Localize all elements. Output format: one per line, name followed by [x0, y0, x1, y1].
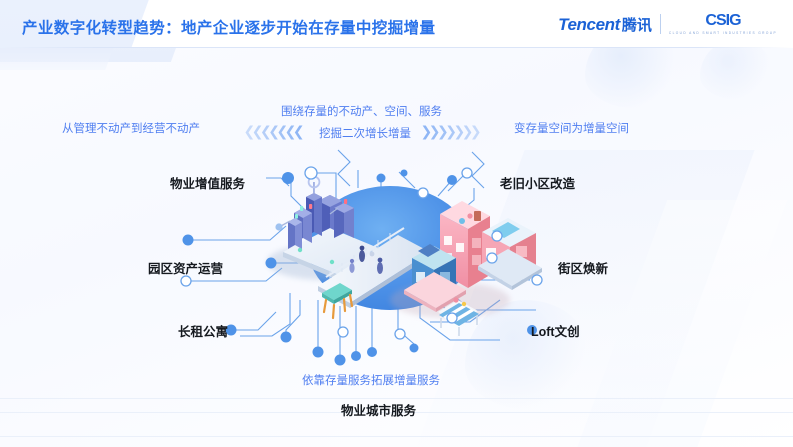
annotation-mid-top: 围绕存量的不动产、空间、服务: [281, 103, 442, 119]
tencent-logo: Tencent腾讯: [558, 14, 652, 35]
node-label-old-community-renovation: 老旧小区改造: [500, 173, 575, 192]
node-label-park-asset-operation: 园区资产运营: [148, 258, 223, 277]
node-label-property-city-service: 物业城市服务: [341, 400, 416, 419]
node-label-long-term-apartment: 长租公寓: [178, 321, 228, 340]
annotation-left: 从管理不动产到经营不动产: [62, 120, 200, 136]
csig-logo-tagline: CLOUD AND SMART INDUSTRIES GROUP: [669, 31, 777, 35]
node-label-street-renewal: 街区焕新: [558, 258, 608, 277]
node-label-loft-culture-creative: Loft文创: [531, 321, 580, 340]
chevron-right-icon: ❯❯❯❯❯❯❯: [424, 124, 482, 138]
brand-divider: [660, 14, 661, 34]
annotation-right: 变存量空间为增量空间: [514, 120, 629, 136]
tencent-logo-chinese: 腾讯: [622, 17, 652, 34]
slide-header: 产业数字化转型趋势：地产企业逐步开始在存量中挖掘增量 Tencent腾讯 CSI…: [0, 0, 793, 48]
tencent-logo-latin: Tencent: [558, 15, 620, 34]
brand-lockup: Tencent腾讯 CSIG CLOUD AND SMART INDUSTRIE…: [558, 13, 777, 35]
csig-logo-wordmark: CSIG: [705, 13, 740, 29]
chevron-left-icon: ❮❮❮❮❮❮❮: [247, 124, 305, 138]
annotation-mid-bottom: 挖掘二次增长增量: [319, 125, 411, 141]
node-label-property-value-added-service: 物业增值服务: [170, 173, 245, 192]
page-title: 产业数字化转型趋势：地产企业逐步开始在存量中挖掘增量: [22, 16, 435, 38]
csig-logo: CSIG CLOUD AND SMART INDUSTRIES GROUP: [669, 13, 777, 35]
slide-canvas: 产业数字化转型趋势：地产企业逐步开始在存量中挖掘增量 Tencent腾讯 CSI…: [0, 0, 793, 447]
annotation-bottom: 依靠存量服务拓展增量服务: [302, 372, 440, 388]
